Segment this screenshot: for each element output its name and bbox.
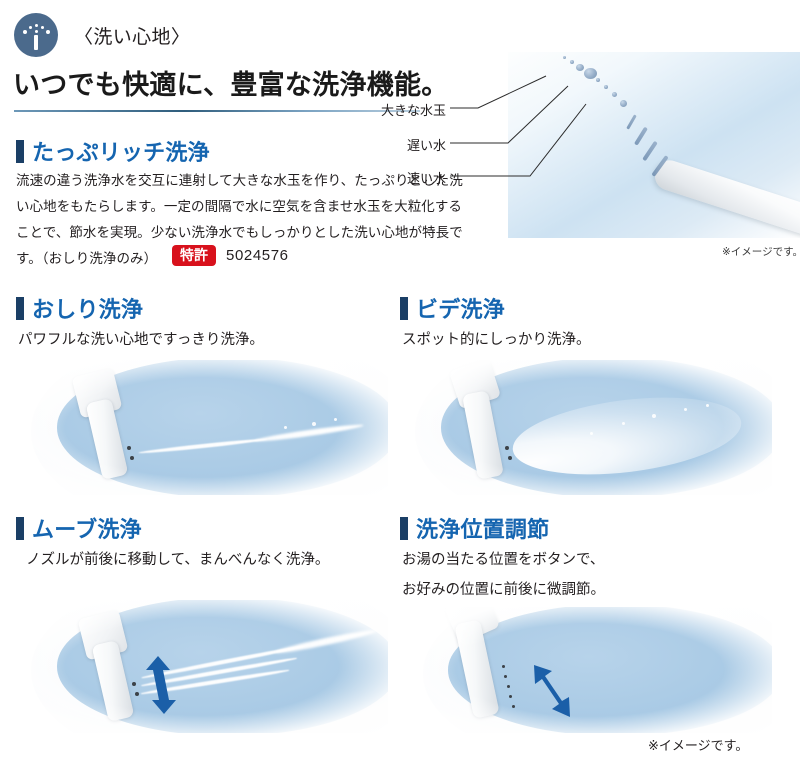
bidet-photo xyxy=(400,360,772,495)
section-heading-tappurich: たっぷリッチ洗浄 xyxy=(16,135,210,167)
position-photo xyxy=(408,607,772,733)
patent-badge: 特許 xyxy=(172,245,216,266)
section-heading-bidet: ビデ洗浄 xyxy=(400,292,505,324)
bidet-description: スポット的にしっかり洗浄。 xyxy=(402,329,591,351)
heading-accent-bar xyxy=(16,297,24,320)
heading-accent-bar xyxy=(16,140,24,163)
callout-label-fast-water: 速い水 xyxy=(366,168,446,187)
move-photo xyxy=(16,600,388,733)
position-description-line1: お湯の当たる位置をボタンで、 xyxy=(402,549,604,571)
move-description: ノズルが前後に移動して、まんべんなく洗浄。 xyxy=(26,549,329,571)
patent-number: 5024576 xyxy=(226,247,289,264)
section-heading-move: ムーブ洗浄 xyxy=(16,512,142,544)
image-note-bottom: ※イメージです。 xyxy=(648,735,748,754)
heading-text: ビデ洗浄 xyxy=(416,292,505,324)
category-row: 〈洗い心地〉 xyxy=(14,13,190,57)
page-title: いつでも快適に、豊富な洗浄機能。 xyxy=(13,63,449,102)
image-note-top: ※イメージです。 xyxy=(722,244,800,259)
callout-leader-lines xyxy=(450,60,610,190)
heading-accent-bar xyxy=(16,517,24,540)
title-divider xyxy=(14,110,420,112)
heading-text: たっぷリッチ洗浄 xyxy=(32,135,210,167)
heading-text: 洗浄位置調節 xyxy=(416,512,549,544)
oshiri-photo xyxy=(16,360,388,495)
category-label: 〈洗い心地〉 xyxy=(74,22,190,49)
heading-accent-bar xyxy=(400,297,408,320)
heading-accent-bar xyxy=(400,517,408,540)
patent-row: 特許 5024576 xyxy=(172,245,289,266)
callout-label-slow-water: 遅い水 xyxy=(366,135,446,154)
callout-label-large-droplet: 大きな水玉 xyxy=(366,100,446,119)
position-description-line2: お好みの位置に前後に微調節。 xyxy=(402,579,605,601)
section-heading-oshiri: おしり洗浄 xyxy=(16,292,143,324)
oshiri-description: パワフルな洗い心地ですっきり洗浄。 xyxy=(18,329,264,351)
heading-text: ムーブ洗浄 xyxy=(32,512,142,544)
section-heading-position: 洗浄位置調節 xyxy=(400,512,549,544)
spray-nozzle-icon xyxy=(14,13,58,57)
heading-text: おしり洗浄 xyxy=(32,292,143,324)
